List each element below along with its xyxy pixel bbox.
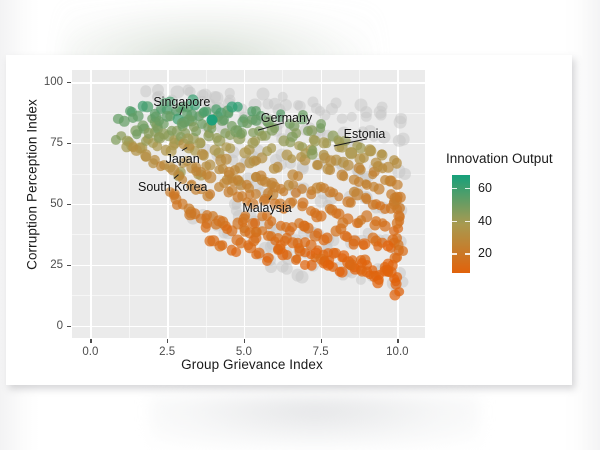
data-point (251, 156, 261, 166)
data-point (221, 154, 232, 165)
y-tick-label: 100 (23, 76, 63, 88)
data-point (319, 183, 329, 193)
data-point (375, 201, 385, 211)
x-tick-label: 7.5 (313, 346, 329, 358)
background-point (224, 88, 235, 99)
annotation-label-south-korea: South Korea (138, 180, 208, 194)
data-point (316, 119, 326, 129)
legend-tick-mark (465, 221, 470, 222)
data-point (383, 259, 394, 270)
data-point (378, 164, 388, 174)
background-point (337, 113, 348, 124)
background-point (183, 84, 194, 95)
legend-tick-mark (465, 253, 470, 254)
data-point (299, 220, 310, 231)
y-tick-label: 0 (23, 320, 63, 332)
data-point (185, 209, 197, 221)
data-point (348, 239, 359, 250)
y-tick-mark (67, 82, 71, 83)
data-point (228, 177, 238, 187)
data-point (287, 154, 297, 164)
x-tick-mark (321, 339, 322, 343)
annotation-label-japan: Japan (166, 152, 200, 166)
y-tick-mark (67, 143, 71, 144)
data-point (137, 101, 148, 112)
legend-tick-mark (452, 221, 457, 222)
data-point (214, 240, 225, 251)
data-point (307, 149, 318, 160)
data-point (262, 146, 272, 156)
y-tick-mark (67, 326, 71, 327)
background-point (293, 100, 303, 110)
y-tick-label: 50 (23, 198, 63, 210)
data-point (251, 250, 261, 260)
y-tick-label: 75 (23, 137, 63, 149)
x-tick-label: 0.0 (82, 346, 98, 358)
data-point (291, 188, 301, 198)
data-point (325, 156, 337, 168)
background-point (395, 113, 407, 125)
legend-tick-mark (452, 188, 457, 189)
legend-tick-mark (465, 188, 470, 189)
gridline-y-minor (72, 295, 425, 296)
data-point (200, 222, 211, 233)
data-point (300, 237, 310, 247)
background-point (399, 168, 411, 180)
data-point (192, 166, 202, 176)
background-point (291, 269, 304, 282)
data-point (334, 267, 345, 278)
data-point (244, 183, 254, 193)
x-tick-mark (90, 339, 91, 343)
x-tick-mark (397, 339, 398, 343)
data-point (257, 131, 267, 141)
x-axis-title: Group Grievance Index (72, 357, 432, 372)
data-point (378, 218, 388, 228)
background-point (361, 112, 372, 123)
data-point (226, 101, 237, 112)
data-point (222, 224, 232, 234)
data-point (365, 145, 376, 156)
data-point (262, 256, 272, 266)
background-point (140, 85, 151, 96)
legend-tick-label: 40 (478, 214, 492, 228)
background-point (331, 97, 342, 108)
x-tick-mark (167, 339, 168, 343)
data-point (203, 210, 213, 220)
data-point (355, 154, 366, 165)
gridline-y (72, 82, 425, 83)
data-point-highlight (206, 114, 217, 125)
y-tick-mark (67, 265, 71, 266)
data-point (329, 188, 339, 198)
background-point (347, 111, 357, 121)
plot-panel: SingaporeGermanyEstoniaJapanSouth KoreaM… (72, 70, 425, 338)
data-point (356, 215, 366, 225)
data-point (386, 176, 397, 187)
data-point (128, 143, 138, 153)
data-point (372, 276, 383, 287)
data-point (269, 164, 280, 175)
background-point (397, 133, 410, 146)
chart-card: Corruption Perception Index Group Grieva… (6, 55, 572, 385)
background-point (256, 88, 269, 101)
data-point (250, 218, 260, 228)
data-point (231, 247, 241, 257)
gridline-y (72, 326, 425, 327)
x-tick-label: 2.5 (159, 346, 175, 358)
annotation-label-germany: Germany (261, 111, 312, 125)
background-point (375, 110, 386, 121)
annotation-label-malaysia: Malaysia (242, 201, 291, 215)
y-tick-mark (67, 204, 71, 205)
y-tick-label: 25 (23, 259, 63, 271)
data-point (339, 172, 349, 182)
bottom-background-blur (150, 395, 480, 447)
x-tick-label: 10.0 (386, 346, 408, 358)
legend-colorbar (452, 175, 470, 273)
x-tick-label: 5.0 (236, 346, 252, 358)
data-point (373, 242, 382, 251)
scatter-plot: Corruption Perception Index Group Grieva… (6, 55, 572, 385)
legend-tick-label: 20 (478, 246, 492, 260)
x-tick-mark (244, 339, 245, 343)
legend-tick-mark (452, 253, 457, 254)
data-point (395, 192, 405, 202)
legend-title: Innovation Output (446, 151, 553, 166)
data-point (243, 240, 253, 250)
legend-tick-label: 60 (478, 181, 492, 195)
background-point (278, 91, 289, 102)
